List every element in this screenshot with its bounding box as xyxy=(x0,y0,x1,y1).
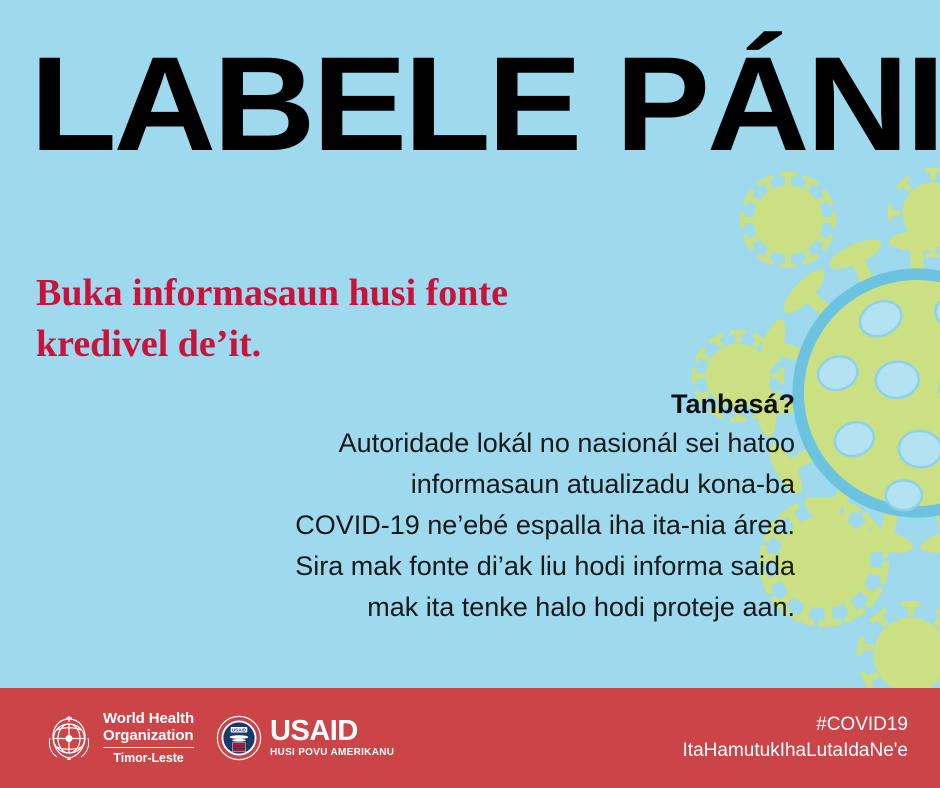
usaid-name: USAID xyxy=(270,718,394,746)
subheading-line-1: Buka informasaun husi fonte xyxy=(36,268,636,319)
who-emblem-icon xyxy=(44,713,94,763)
hashtag-campaign: ItaHamutukIhaLutaIdaNe'e xyxy=(683,738,908,764)
virus-edge-top-right-icon xyxy=(888,168,940,258)
usaid-wordmark: USAID HUSI POVU AMERIKANU xyxy=(270,718,394,759)
who-line-2: Organization xyxy=(103,728,194,745)
hashtag-group: #COVID19 ItaHamutukIhaLutaIdaNe'e xyxy=(683,712,908,764)
subheading-line-2: kredivel de’it. xyxy=(36,319,636,370)
who-line-1: World Health xyxy=(103,711,194,728)
who-wordmark: World Health Organization Timor-Leste xyxy=(103,711,194,766)
who-logo: World Health Organization Timor-Leste xyxy=(44,711,194,766)
who-country-label: Timor-Leste xyxy=(103,747,194,765)
svg-text:USAID: USAID xyxy=(232,728,247,733)
body-line-3: COVID-19 ne’ebé espalla iha ita-nia área… xyxy=(295,505,795,546)
usaid-tagline: HUSI POVU AMERIKANU xyxy=(270,747,394,758)
body-line-1: Autoridade lokál no nasionál sei hatoo xyxy=(295,423,795,464)
usaid-logo: USAID USAID xyxy=(216,715,394,761)
body-copy: Tanbasá? Autoridade lokál no nasionál se… xyxy=(295,385,795,628)
body-line-4: Sira mak fonte di’ak liu hodi informa sa… xyxy=(295,546,795,587)
why-label: Tanbasá? xyxy=(295,385,795,423)
virus-small-top-icon xyxy=(740,172,836,268)
covid-awareness-poster: LABELE PÁNIKU! Buka informasaun husi fon… xyxy=(0,0,940,788)
subheading: Buka informasaun husi fonte kredivel de’… xyxy=(36,268,636,371)
usaid-seal-icon: USAID xyxy=(216,715,262,761)
hashtag-covid19: #COVID19 xyxy=(683,712,908,738)
page-title: LABELE PÁNIKU! xyxy=(30,38,940,172)
body-line-2: informasaun atualizadu kona-ba xyxy=(295,464,795,505)
body-line-5: mak ita tenke halo hodi proteje aan. xyxy=(295,587,795,628)
logo-group: World Health Organization Timor-Leste US… xyxy=(44,711,394,766)
footer-bar: World Health Organization Timor-Leste US… xyxy=(0,688,940,788)
